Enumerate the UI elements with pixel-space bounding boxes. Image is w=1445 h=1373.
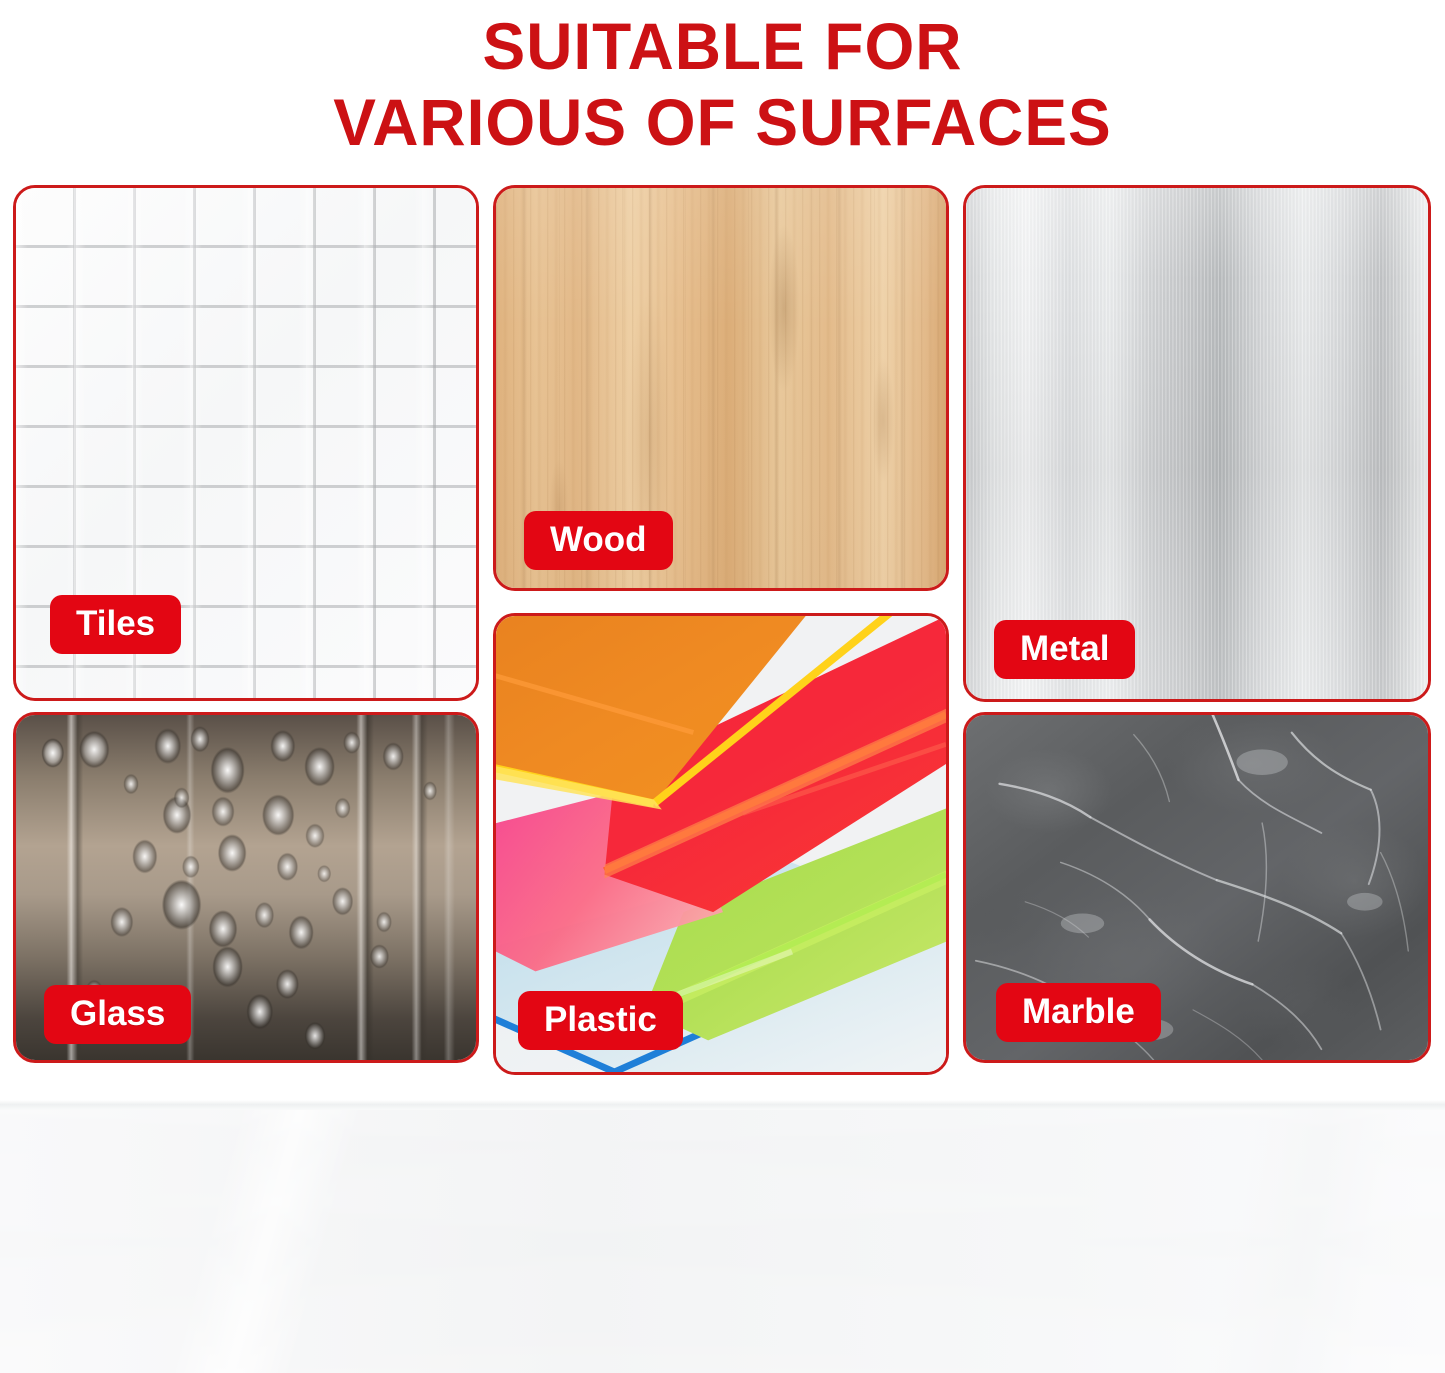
surface-label-metal: Metal	[994, 620, 1135, 679]
surface-label-marble: Marble	[996, 983, 1161, 1042]
surface-card-glass[interactable]: Glass	[13, 712, 479, 1063]
surface-card-tiles[interactable]: Tiles	[13, 185, 479, 701]
surface-label-plastic: Plastic	[518, 991, 683, 1050]
surface-label-glass: Glass	[44, 985, 191, 1044]
surface-label-tiles: Tiles	[50, 595, 181, 654]
product-surface-strip	[0, 1100, 1445, 1373]
surface-card-marble[interactable]: Marble	[963, 712, 1431, 1063]
surface-card-wood[interactable]: Wood	[493, 185, 949, 591]
page-title: SUITABLE FOR VARIOUS OF SURFACES	[0, 0, 1445, 176]
surface-card-metal[interactable]: Metal	[963, 185, 1431, 702]
surface-card-plastic[interactable]: Plastic	[493, 613, 949, 1075]
title-line-2: VARIOUS OF SURFACES	[22, 84, 1424, 160]
surface-label-wood: Wood	[524, 511, 673, 570]
title-line-1: SUITABLE FOR	[22, 8, 1424, 84]
